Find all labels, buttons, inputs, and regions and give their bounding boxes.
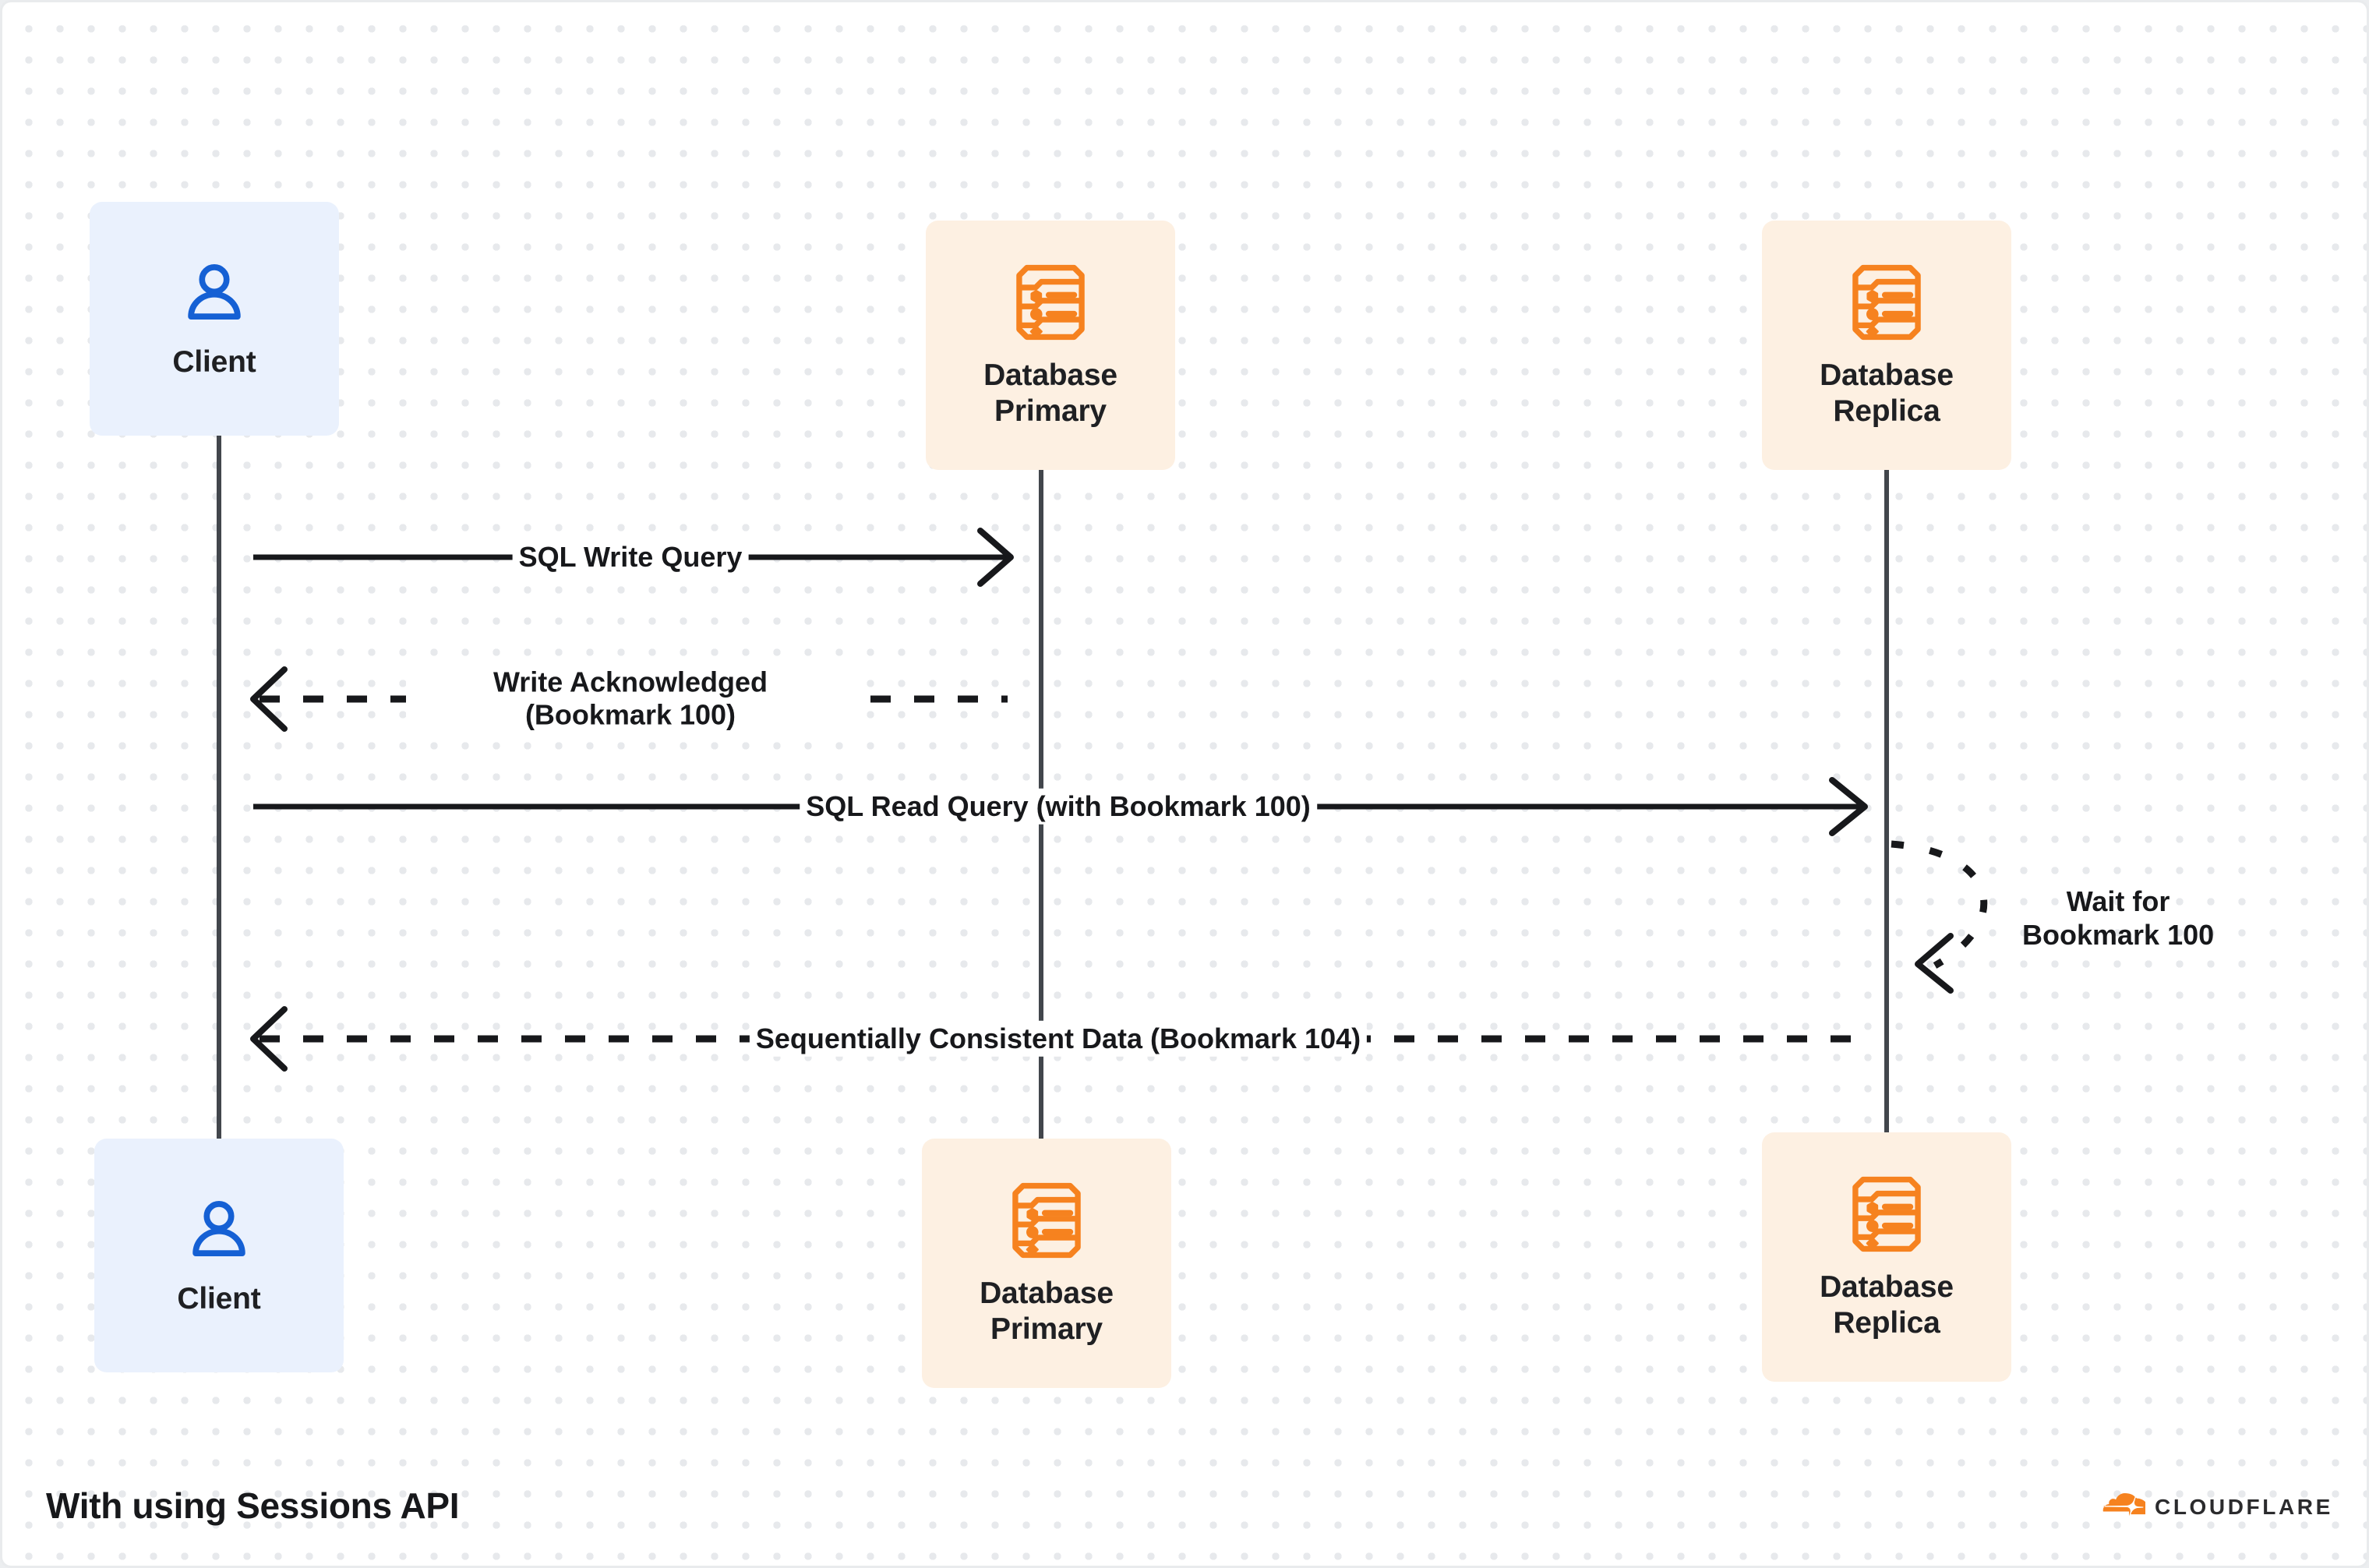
database-icon: [1849, 1174, 1924, 1259]
cloudflare-wordmark: CLOUDFLARE: [2155, 1495, 2333, 1520]
cloudflare-cloud-icon: [2097, 1493, 2145, 1520]
actor-label: DatabaseReplica: [1820, 1270, 1954, 1340]
message-arrow-dashed: [2, 2, 2369, 1568]
actor-label: Client: [177, 1281, 260, 1317]
actor-replica-bottom[interactable]: DatabaseReplica: [1762, 1132, 2011, 1382]
cloudflare-logo: CLOUDFLARE: [2097, 1493, 2333, 1520]
diagram-caption: With using Sessions API: [46, 1485, 459, 1527]
message-label: Sequentially Consistent Data (Bookmark 1…: [750, 1021, 1367, 1057]
person-icon: [183, 1195, 255, 1270]
diagram-canvas: Client DatabasePrimary: [0, 0, 2369, 1568]
actor-primary-bottom[interactable]: DatabasePrimary: [922, 1139, 1171, 1388]
database-icon: [1009, 1180, 1084, 1265]
actor-label: DatabasePrimary: [980, 1276, 1114, 1347]
actor-client-bottom[interactable]: Client: [94, 1139, 344, 1372]
